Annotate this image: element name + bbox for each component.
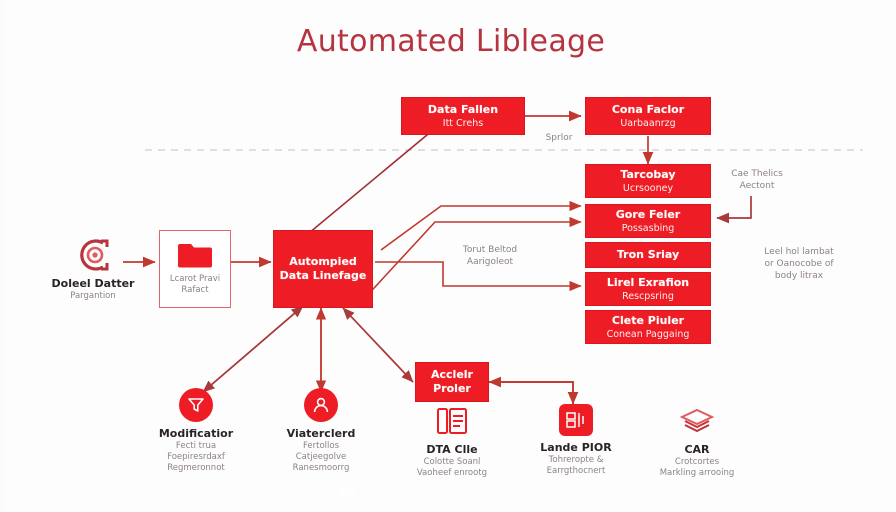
right-box-clete-piuler-line2: Conean Paggaing xyxy=(607,328,690,341)
arrow-modification-to-center xyxy=(203,306,303,392)
right-box-gore-feler-line2: Possasbing xyxy=(622,222,675,235)
annotation-middle-line1: Torut Beltod xyxy=(425,244,555,256)
center-box-line1: Autompied xyxy=(289,255,357,269)
diagram-canvas: Automated Libleage Doleel Datter Pargant… xyxy=(0,0,896,512)
node-lande-pior-desc2: Earrgthocnert xyxy=(516,466,636,477)
process-box-line1: Acclelr xyxy=(431,368,473,382)
node-dta-clle-desc2: Vaoheef enrootg xyxy=(392,468,512,479)
center-box-line2: Data Linefage xyxy=(280,269,367,283)
node-car[interactable]: CAR Crotcortes Markling arrooing xyxy=(637,404,757,479)
node-lande-pior[interactable]: Lande PIOR Tohreropte & Earrgthocnert xyxy=(516,404,636,477)
document-list-icon xyxy=(432,404,472,438)
right-box-tarcobay-line2: Ucrsooney xyxy=(623,182,673,195)
node-dta-clle-desc1: Colotte Soanl xyxy=(392,457,512,468)
top-box-cona-faclor-line2: Uarbaanrzg xyxy=(620,117,675,130)
annotation-right-top-line2: Aectont xyxy=(709,180,805,192)
node-car-desc1: Crotcortes xyxy=(637,457,757,468)
process-box[interactable]: Acclelr Proler xyxy=(415,362,489,402)
annotation-middle-line2: Aarigoleot xyxy=(425,256,555,268)
right-box-lirel-exrafion-line1: Lirel Exrafion xyxy=(607,276,689,290)
arrow-landepior-to-process xyxy=(489,382,573,404)
node-dta-clle-name: DTA Clle xyxy=(392,443,512,457)
top-box-data-fallen-line2: Itt Crehs xyxy=(443,117,483,130)
arrow-center-to-datafallen xyxy=(303,130,433,238)
ingest-box[interactable]: TN Lcarot Pravi Rafact xyxy=(159,230,231,308)
filter-circle-icon xyxy=(179,388,213,422)
right-box-lirel-exrafion-line2: Rescpsring xyxy=(622,290,674,303)
node-source-desc: Pargantion xyxy=(33,291,153,302)
right-box-ton-sriay[interactable]: Tron Sriay xyxy=(585,242,711,268)
node-lande-pior-desc1: Tohreropte & xyxy=(516,455,636,466)
annotation-right-bottom: Leel hol lambat or Oanocobe of body litr… xyxy=(741,246,857,282)
right-box-gore-feler[interactable]: Gore Feler Possasbing xyxy=(585,204,711,238)
divider-label: Sprlor xyxy=(519,132,599,144)
node-dta-clle[interactable]: DTA Clle Colotte Soanl Vaoheef enrootg xyxy=(392,404,512,479)
circular-c-icon xyxy=(73,238,113,272)
annotation-right-bottom-line2: or Oanocobe of xyxy=(741,258,857,270)
node-modification-desc2: Foepiresrdaxf xyxy=(136,452,256,463)
center-box[interactable]: Autompied Data Linefage xyxy=(273,230,373,308)
node-user-record-desc3: Ranesmoorrg xyxy=(261,463,381,474)
arrow-annotation-to-gorefeler xyxy=(717,196,751,218)
node-modification-desc1: Fecti trua xyxy=(136,441,256,452)
top-box-cona-faclor-line1: Cona Faclor xyxy=(612,103,684,117)
top-box-data-fallen-line1: Data Fallen xyxy=(428,103,498,117)
grid-card-icon xyxy=(559,404,593,436)
ingest-caption-line2: Rafact xyxy=(181,285,208,296)
node-car-name: CAR xyxy=(637,443,757,457)
node-modification-name: Modificatior xyxy=(136,427,256,441)
ingest-caption-line1: Lcarot Pravi xyxy=(170,274,220,285)
node-source-name: Doleel Datter xyxy=(33,277,153,291)
annotation-right-bottom-line1: Leel hol lambat xyxy=(741,246,857,258)
node-user-record-desc1: Fertollos xyxy=(261,441,381,452)
annotation-right-top-line1: Cae Thelics xyxy=(709,168,805,180)
folder-tab-label: TN xyxy=(338,487,355,500)
annotation-middle: Torut Beltod Aarigoleot xyxy=(425,244,555,268)
node-car-desc2: Markling arrooing xyxy=(637,468,757,479)
user-circle-icon xyxy=(304,388,338,422)
node-source[interactable]: Doleel Datter Pargantion xyxy=(33,238,153,302)
folder-icon xyxy=(175,238,215,272)
stacked-layers-icon xyxy=(677,404,717,438)
arrow-process-branch-down xyxy=(489,382,573,404)
node-modification[interactable]: Modificatior Fecti trua Foepiresrdaxf Re… xyxy=(136,388,256,474)
node-user-record[interactable]: Viaterclerd Fertollos Catjeegolve Ranesm… xyxy=(261,388,381,474)
right-box-gore-feler-line1: Gore Feler xyxy=(616,208,681,222)
node-lande-pior-name: Lande PIOR xyxy=(516,441,636,455)
right-box-clete-piuler[interactable]: Clete Piuler Conean Paggaing xyxy=(585,310,711,344)
page-title: Automated Libleage xyxy=(3,24,896,59)
top-box-cona-faclor[interactable]: Cona Faclor Uarbaanrzg xyxy=(585,97,711,135)
right-box-lirel-exrafion[interactable]: Lirel Exrafion Rescpsring xyxy=(585,272,711,306)
process-box-line2: Proler xyxy=(433,382,471,396)
annotation-right-bottom-line3: body litrax xyxy=(741,270,857,282)
node-user-record-desc2: Catjeegolve xyxy=(261,452,381,463)
right-box-tarcobay[interactable]: Tarcobay Ucrsooney xyxy=(585,164,711,198)
top-box-data-fallen[interactable]: Data Fallen Itt Crehs xyxy=(401,97,525,135)
right-box-tarcobay-line1: Tarcobay xyxy=(620,168,675,182)
right-box-ton-sriay-line1: Tron Sriay xyxy=(617,248,679,262)
right-box-clete-piuler-line1: Clete Piuler xyxy=(612,314,684,328)
arrow-process-to-center xyxy=(343,308,413,382)
node-user-record-name: Viaterclerd xyxy=(261,427,381,441)
annotation-right-top: Cae Thelics Aectont xyxy=(709,168,805,192)
node-modification-desc3: Regmeronnot xyxy=(136,463,256,474)
